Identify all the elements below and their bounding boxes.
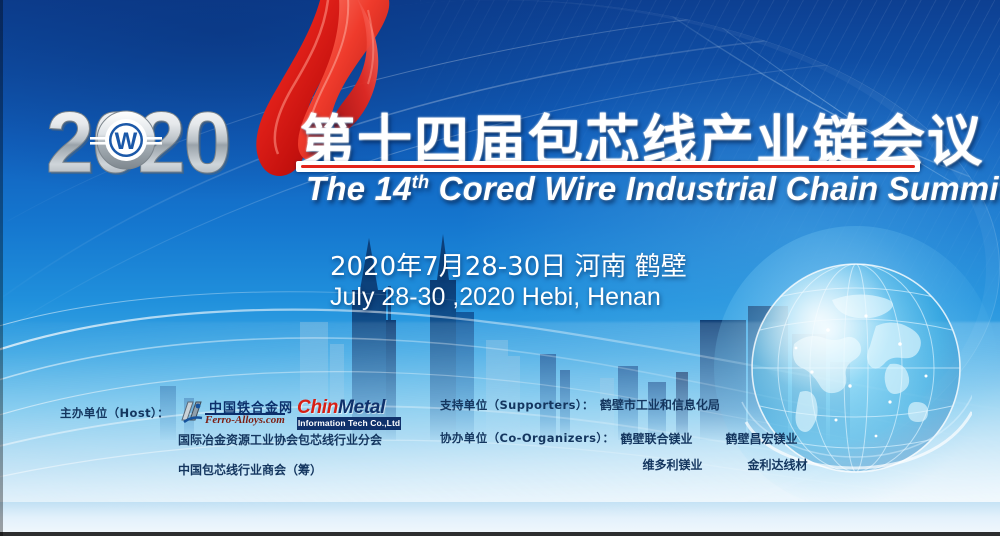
ferro-alloys-name-en: Ferro-Alloys.com	[205, 414, 285, 426]
co-organizer-3: 维多利镁业	[642, 456, 747, 473]
co-organizer-4: 金利达线材	[747, 456, 852, 473]
host-sub-line-1: 国际冶金资源工业协会包芯线行业分会	[178, 431, 382, 448]
host-sub-line-2: 中国包芯线行业商会（筹）	[178, 461, 322, 478]
co-organizers-line-2: 维多利镁业 金利达线材	[620, 456, 852, 473]
chinmetal-chin: Chin	[297, 397, 338, 418]
host-row: 主办单位（Host）： 中国铁合金网 Ferro-Alloys.com Chin…	[60, 396, 401, 430]
co-organizers-line-1: 鹤壁联合镁业 鹤壁昌宏镁业	[620, 430, 852, 447]
co-organizers-names: 鹤壁联合镁业 鹤壁昌宏镁业 维多利镁业 金利达线材	[620, 430, 852, 473]
bottom-edge	[0, 532, 1000, 536]
co-organizer-1: 鹤壁联合镁业	[620, 430, 725, 447]
chinmetal-logo[interactable]: ChinMetal Information Tech Co.,Ltd	[297, 397, 401, 429]
title-en-ordinal: th	[412, 172, 430, 192]
event-date-english: July 28-30 ,2020 Hebi, Henan	[330, 283, 661, 312]
left-edge	[0, 0, 3, 536]
ferro-alloys-mark	[179, 398, 205, 426]
title-en-pre: The 14	[306, 170, 412, 207]
page-title-english: The 14th Cored Wire Industrial Chain Sum…	[306, 170, 1000, 208]
year-logo-2020: 2020 2020 W	[46, 98, 298, 182]
w-emblem-letter: W	[115, 128, 138, 155]
conference-banner: 2020 2020 W 第十四届包芯线产业链会议 The 14th Cored …	[0, 0, 1000, 536]
title-en-post: Cored Wire Industrial Chain Summit	[429, 170, 1000, 207]
supporters-value: 鹤壁市工业和信息化局	[600, 396, 720, 413]
supporters-row: 支持单位（Supporters）： 鹤壁市工业和信息化局	[440, 396, 720, 413]
event-date-chinese: 2020年7月28-30日 河南 鹤壁	[330, 246, 687, 283]
chinmetal-wordmark: ChinMetal	[297, 397, 385, 419]
co-organizers-label: 协办单位（Co-Organizers）：	[440, 430, 614, 446]
bottom-band	[0, 502, 1000, 536]
supporters-label: 支持单位（Supporters）：	[440, 397, 594, 413]
co-organizer-2: 鹤壁昌宏镁业	[725, 430, 830, 447]
host-label: 主办单位（Host）：	[60, 405, 169, 421]
chinmetal-metal: Metal	[338, 397, 385, 418]
co-organizers-row: 协办单位（Co-Organizers）： 鹤壁联合镁业 鹤壁昌宏镁业 维多利镁业…	[440, 430, 852, 473]
chinmetal-tagline: Information Tech Co.,Ltd	[297, 417, 401, 430]
ferro-alloys-logo[interactable]: 中国铁合金网 Ferro-Alloys.com	[179, 396, 287, 430]
